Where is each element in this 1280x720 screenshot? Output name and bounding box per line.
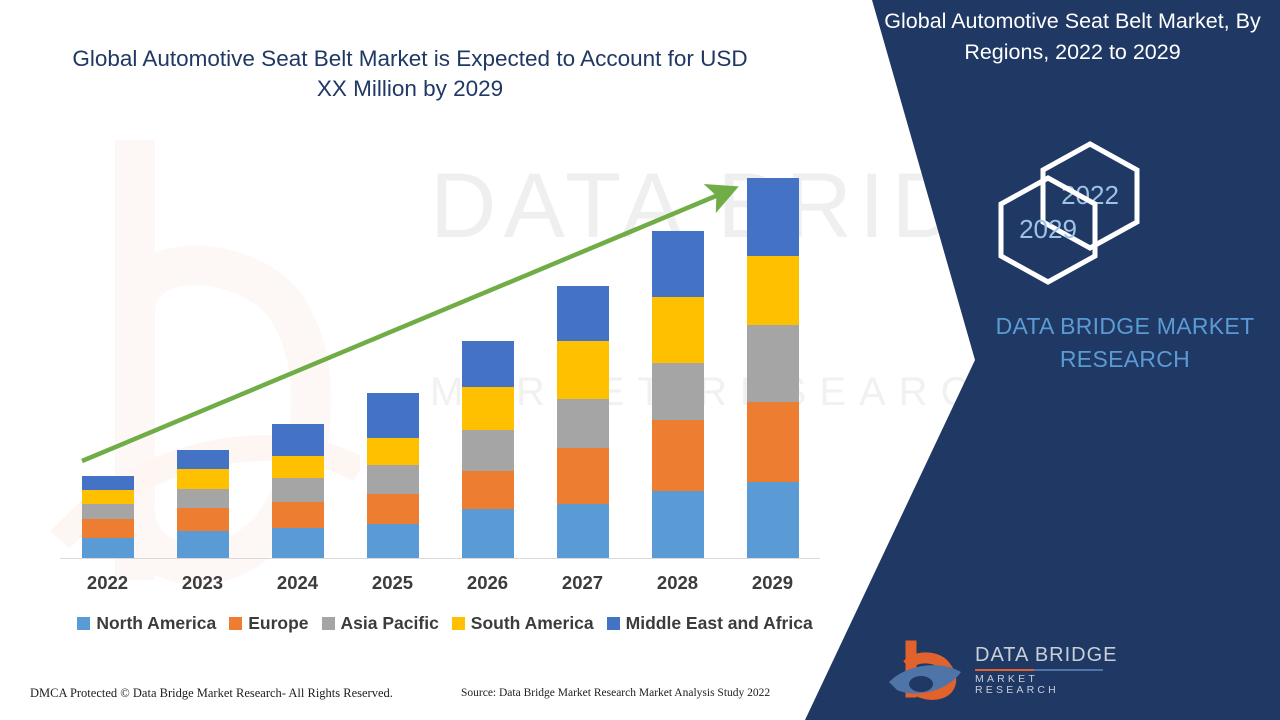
bar-segment xyxy=(272,502,324,529)
legend-item[interactable]: Middle East and Africa xyxy=(607,613,813,634)
bar-segment xyxy=(82,519,134,537)
logo-wordmark: DATA BRIDGE MARKET RESEARCH xyxy=(975,645,1125,696)
chart-plot-area xyxy=(0,150,880,560)
bar-stack-2029 xyxy=(747,178,799,558)
x-axis-labels: 20222023202420252026202720282029 xyxy=(60,572,820,602)
bar-segment xyxy=(367,465,419,494)
bar-segment xyxy=(557,399,609,448)
x-axis-tick-2028: 2028 xyxy=(643,572,713,594)
chart-legend: North AmericaEuropeAsia PacificSouth Ame… xyxy=(60,613,830,634)
bar-segment xyxy=(367,438,419,466)
bar-stack-2027 xyxy=(557,286,609,558)
hexagon-badge-near-label: 2029 xyxy=(1019,214,1077,244)
x-axis-tick-2029: 2029 xyxy=(738,572,808,594)
bar-segment xyxy=(272,456,324,478)
bar-segment xyxy=(462,509,514,558)
bar-stack-2023 xyxy=(177,450,229,558)
x-axis-tick-2023: 2023 xyxy=(168,572,238,594)
legend-label: Middle East and Africa xyxy=(626,613,813,634)
logo-line-2: MARKET RESEARCH xyxy=(975,674,1125,696)
legend-label: South America xyxy=(471,613,594,634)
bar-stack-2024 xyxy=(272,424,324,558)
legend-swatch-icon xyxy=(229,617,242,630)
hexagon-badge-far-label: 2022 xyxy=(1061,180,1119,210)
bar-segment xyxy=(367,524,419,558)
legend-label: Asia Pacific xyxy=(341,613,439,634)
bar-segment xyxy=(82,504,134,519)
legend-swatch-icon xyxy=(607,617,620,630)
right-panel-title: Global Automotive Seat Belt Market, By R… xyxy=(865,6,1280,67)
bar-segment xyxy=(367,494,419,525)
bar-segment xyxy=(82,476,134,489)
bar-segment xyxy=(652,363,704,420)
legend-label: North America xyxy=(96,613,216,634)
legend-label: Europe xyxy=(248,613,308,634)
bar-segment xyxy=(747,178,799,257)
logo-line-1: DATA BRIDGE xyxy=(975,645,1125,666)
bar-segment xyxy=(272,424,324,456)
bar-stack-2026 xyxy=(462,341,514,558)
bar-segment xyxy=(557,448,609,504)
bar-segment xyxy=(557,341,609,399)
bar-segment xyxy=(557,504,609,558)
footer-source: Source: Data Bridge Market Research Mark… xyxy=(461,687,770,699)
bar-segment xyxy=(82,538,134,558)
x-axis-tick-2027: 2027 xyxy=(548,572,618,594)
bar-stack-2028 xyxy=(652,231,704,558)
x-axis-line xyxy=(60,558,820,559)
bar-segment xyxy=(177,450,229,469)
bar-segment xyxy=(652,420,704,490)
bars-container xyxy=(60,150,820,558)
logo-divider xyxy=(975,669,1103,671)
bar-segment xyxy=(177,489,229,508)
bar-segment xyxy=(177,531,229,558)
bar-stack-2022 xyxy=(82,476,134,558)
legend-swatch-icon xyxy=(322,617,335,630)
x-axis-tick-2024: 2024 xyxy=(263,572,333,594)
legend-item[interactable]: Asia Pacific xyxy=(322,613,439,634)
bar-segment xyxy=(367,393,419,438)
bar-segment xyxy=(557,286,609,341)
bar-segment xyxy=(747,256,799,325)
bar-segment xyxy=(272,478,324,501)
bar-segment xyxy=(652,491,704,558)
legend-item[interactable]: Europe xyxy=(229,613,308,634)
legend-item[interactable]: North America xyxy=(77,613,216,634)
bar-segment xyxy=(82,490,134,504)
bar-stack-2025 xyxy=(367,393,419,558)
brand-name: DATA BRIDGE MARKET RESEARCH xyxy=(960,310,1280,375)
chart-title: Global Automotive Seat Belt Market is Ex… xyxy=(60,44,760,104)
hexagon-badges: 2022 2029 xyxy=(985,140,1185,285)
x-axis-tick-2022: 2022 xyxy=(73,572,143,594)
legend-item[interactable]: South America xyxy=(452,613,594,634)
bar-segment xyxy=(747,325,799,402)
legend-swatch-icon xyxy=(452,617,465,630)
bar-segment xyxy=(747,402,799,482)
x-axis-tick-2026: 2026 xyxy=(453,572,523,594)
chart-panel: DATA BRIDGE MARKET RESEARCH Global Autom… xyxy=(0,0,980,720)
bar-segment xyxy=(462,341,514,387)
bar-segment xyxy=(462,430,514,472)
bar-segment xyxy=(177,508,229,531)
bar-segment xyxy=(272,528,324,558)
legend-swatch-icon xyxy=(77,617,90,630)
footer-copyright: DMCA Protected © Data Bridge Market Rese… xyxy=(30,686,393,701)
bar-segment xyxy=(652,231,704,297)
bar-segment xyxy=(462,387,514,430)
bar-segment xyxy=(177,469,229,488)
bar-segment xyxy=(462,471,514,509)
bar-segment xyxy=(747,482,799,559)
bar-segment xyxy=(652,297,704,363)
x-axis-tick-2025: 2025 xyxy=(358,572,428,594)
